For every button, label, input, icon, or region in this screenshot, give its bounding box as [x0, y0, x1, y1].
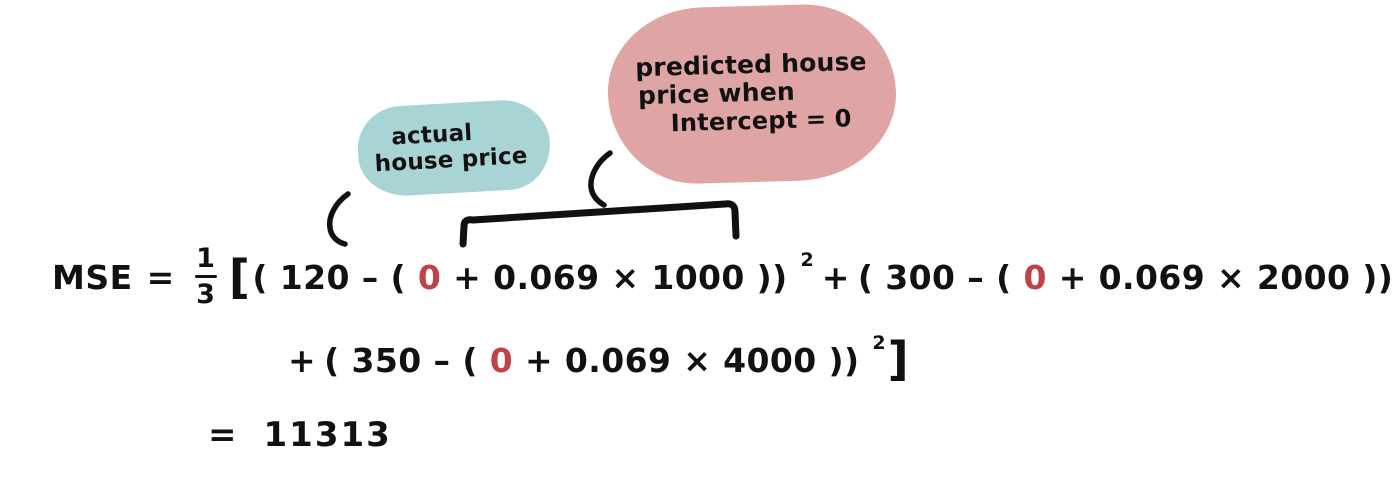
term3-plus: +	[525, 341, 553, 380]
mse-label: MSE	[52, 258, 133, 297]
fraction-numerator: 1	[196, 245, 215, 274]
term2-slope-value: 0.069	[1099, 258, 1205, 297]
term3-minus: –	[434, 341, 451, 380]
predicted-callout-line-3: Intercept = 0	[630, 104, 883, 138]
term1-times: ×	[611, 258, 639, 297]
term2-close-parens: ))	[1362, 258, 1392, 297]
term2-minus: –	[967, 258, 984, 297]
squared-error-term-2: ( 300 – ( 0 + 0.069 × 2000 )) 2	[858, 258, 1392, 297]
term3-size-value: 4000	[723, 341, 816, 380]
term2-size-value: 2000	[1257, 258, 1350, 297]
predicted-house-price-callout: predicted house price when Intercept = 0	[606, 2, 899, 186]
actual-callout-pointer-icon	[318, 190, 364, 252]
term3-pred-open-paren: (	[462, 341, 477, 380]
term3-times: ×	[683, 341, 711, 380]
term1-size-value: 1000	[651, 258, 744, 297]
equals-sign-1: =	[147, 258, 175, 297]
term2-open-paren: (	[858, 258, 873, 297]
line1-operator-between: +	[822, 258, 850, 297]
squared-error-term-1: ( 120 – ( 0 + 0.069 × 1000 )) 2	[252, 258, 813, 297]
mse-result-value: 11313	[264, 415, 392, 455]
fraction-bar	[195, 275, 217, 278]
term1-pred-open-paren: (	[391, 258, 406, 297]
term3-exponent: 2	[872, 332, 885, 354]
equals-sign-2: =	[208, 415, 238, 455]
close-bracket: ]	[888, 332, 910, 386]
term3-close-parens: ))	[828, 341, 859, 380]
term3-intercept-value: 0	[490, 341, 513, 380]
term1-intercept-value: 0	[418, 258, 441, 297]
equation-result-line: = 11313	[208, 415, 392, 455]
term1-minus: –	[362, 258, 379, 297]
term1-exponent: 2	[801, 249, 814, 271]
term3-open-paren: (	[324, 341, 339, 380]
term1-slope-value: 0.069	[493, 258, 599, 297]
term1-open-paren: (	[252, 258, 267, 297]
term2-actual-value: 300	[885, 258, 955, 297]
term1-actual-value: 120	[280, 258, 350, 297]
term2-intercept-value: 0	[1023, 258, 1046, 297]
term2-plus: +	[1059, 258, 1087, 297]
open-bracket: [	[229, 250, 251, 304]
term3-actual-value: 350	[352, 341, 422, 380]
equation-line-2: + ( 350 – ( 0 + 0.069 × 4000 )) 2 ]	[280, 333, 911, 387]
term2-times: ×	[1217, 258, 1245, 297]
handwritten-equation-canvas: actual house price predicted house price…	[0, 0, 1392, 496]
fraction-denominator: 3	[196, 280, 215, 308]
term1-plus: +	[453, 258, 481, 297]
equation-line-1: MSE = 1 3 [ ( 120 – ( 0 + 0.069 × 1000 )…	[52, 246, 1392, 309]
actual-house-price-callout: actual house price	[356, 98, 553, 199]
term2-pred-open-paren: (	[996, 258, 1011, 297]
predicted-term-brace-icon	[455, 196, 755, 252]
one-third-fraction: 1 3	[195, 245, 217, 308]
term1-close-parens: ))	[757, 258, 788, 297]
term3-slope-value: 0.069	[565, 341, 671, 380]
line2-leading-operator: +	[288, 341, 316, 380]
squared-error-term-3: ( 350 – ( 0 + 0.069 × 4000 )) 2	[324, 341, 885, 380]
